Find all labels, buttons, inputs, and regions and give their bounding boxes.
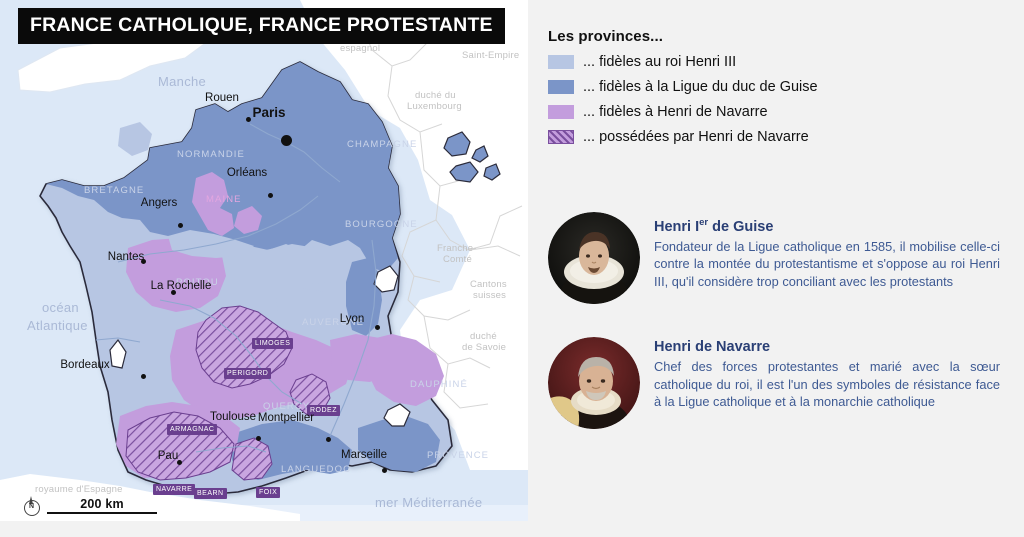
map-city-dot	[281, 135, 292, 146]
legend-label: ... fidèles au roi Henri III	[583, 54, 736, 70]
map-territory-tag: BEARN	[194, 488, 227, 499]
map-city-dot	[171, 290, 176, 295]
legend: Les provinces... ... fidèles au roi Henr…	[548, 28, 1008, 154]
bio-name: Henri Ier de Guise	[654, 214, 1000, 236]
legend-swatch	[548, 80, 574, 94]
map-city-dot	[246, 117, 251, 122]
legend-item: ... fidèles à la Ligue du duc de Guise	[548, 79, 1008, 95]
bio-henri-de-guise: Henri Ier de Guise Fondateur de la Ligue…	[548, 212, 1008, 304]
map-territory-tag: LIMOGES	[252, 338, 293, 349]
map-territory-tag: NAVARRE	[153, 484, 195, 495]
map-city-dot	[141, 259, 146, 264]
legend-item: ... possédées par Henri de Navarre	[548, 129, 1008, 145]
north-arrow-icon: N	[22, 496, 41, 515]
legend-item: ... fidèles à Henri de Navarre	[548, 104, 1008, 120]
map-territory-tag: FOIX	[256, 487, 280, 498]
scale-line	[47, 512, 157, 514]
map-city-dot	[178, 223, 183, 228]
legend-label: ... fidèles à Henri de Navarre	[583, 104, 768, 120]
compass-north-letter: N	[22, 502, 41, 512]
legend-heading: Les provinces...	[548, 28, 1008, 45]
map-city-dot	[141, 374, 146, 379]
map-territory-tag: PERIGORD	[224, 368, 271, 379]
map-city-dot	[256, 436, 261, 441]
map-territory-tag: ARMAGNAC	[167, 424, 217, 435]
legend-rows: ... fidèles au roi Henri III... fidèles …	[548, 54, 1008, 145]
legend-label: ... fidèles à la Ligue du duc de Guise	[583, 79, 818, 95]
bio-henri-de-navarre: Henri de Navarre Chef des forces protest…	[548, 337, 1008, 429]
map-city-dot	[382, 468, 387, 473]
bio-name: Henri de Navarre	[654, 339, 1000, 356]
bio-text: Fondateur de la Ligue catholique en 1585…	[654, 238, 1000, 291]
france-map-graphic	[0, 0, 528, 521]
map-title: FRANCE CATHOLIQUE, FRANCE PROTESTANTE	[18, 8, 505, 44]
map-panel: FRANCE CATHOLIQUE, FRANCE PROTESTANTE Ma…	[0, 0, 528, 521]
portrait-henri-de-navarre	[548, 337, 640, 429]
legend-label: ... possédées par Henri de Navarre	[583, 129, 809, 145]
scale-label: 200 km	[80, 497, 124, 511]
map-city-dot	[177, 460, 182, 465]
map-city-dot	[268, 193, 273, 198]
legend-swatch	[548, 55, 574, 69]
map-city-dot	[326, 437, 331, 442]
legend-swatch	[548, 130, 574, 144]
info-panel: Les provinces... ... fidèles au roi Henr…	[528, 0, 1024, 537]
portrait-henri-de-guise	[548, 212, 640, 304]
map-city-dot	[375, 325, 380, 330]
legend-swatch	[548, 105, 574, 119]
scale-bar: N 200 km	[22, 496, 157, 515]
map-territory-tag: RODEZ	[307, 405, 340, 416]
legend-item: ... fidèles au roi Henri III	[548, 54, 1008, 70]
bio-text: Chef des forces protestantes et marié av…	[654, 358, 1000, 411]
